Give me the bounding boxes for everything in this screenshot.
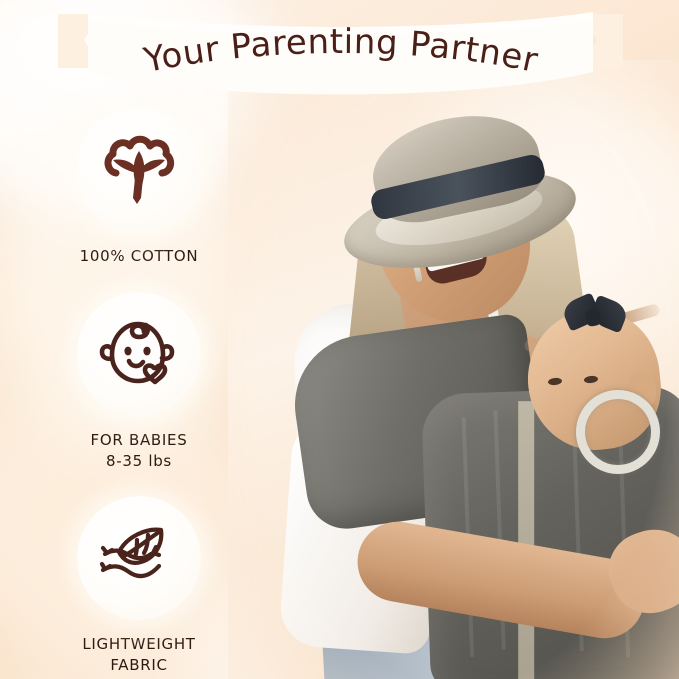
banner-title-curve: Your Parenting Partner [101, 10, 581, 106]
feature-item-babies[interactable]: FOR BABIES 8-35 lbs [40, 292, 238, 473]
icon-badge [77, 496, 201, 620]
feather-lightweight-icon [93, 520, 185, 596]
page-title: Your Parenting Partner [139, 22, 541, 81]
icon-badge [77, 108, 201, 232]
feature-label-babies: FOR BABIES 8-35 lbs [40, 430, 238, 473]
baby-bow-knot [585, 309, 602, 327]
feature-label-cotton: 100% COTTON [40, 246, 238, 267]
feature-item-lightweight[interactable]: LIGHTWEIGHT FABRIC [40, 496, 238, 677]
product-feature-infographic: Your Parenting Partner [0, 0, 679, 679]
lifestyle-photo [228, 60, 679, 679]
feature-label-lightweight: LIGHTWEIGHT FABRIC [40, 634, 238, 677]
feature-item-cotton[interactable]: 100% COTTON [40, 108, 238, 267]
icon-badge [77, 292, 201, 416]
cotton-boll-icon [96, 127, 182, 213]
banner-title-wrap: Your Parenting Partner [58, 6, 623, 110]
baby-face-heart-icon [94, 315, 184, 393]
banner: Your Parenting Partner [58, 6, 623, 110]
